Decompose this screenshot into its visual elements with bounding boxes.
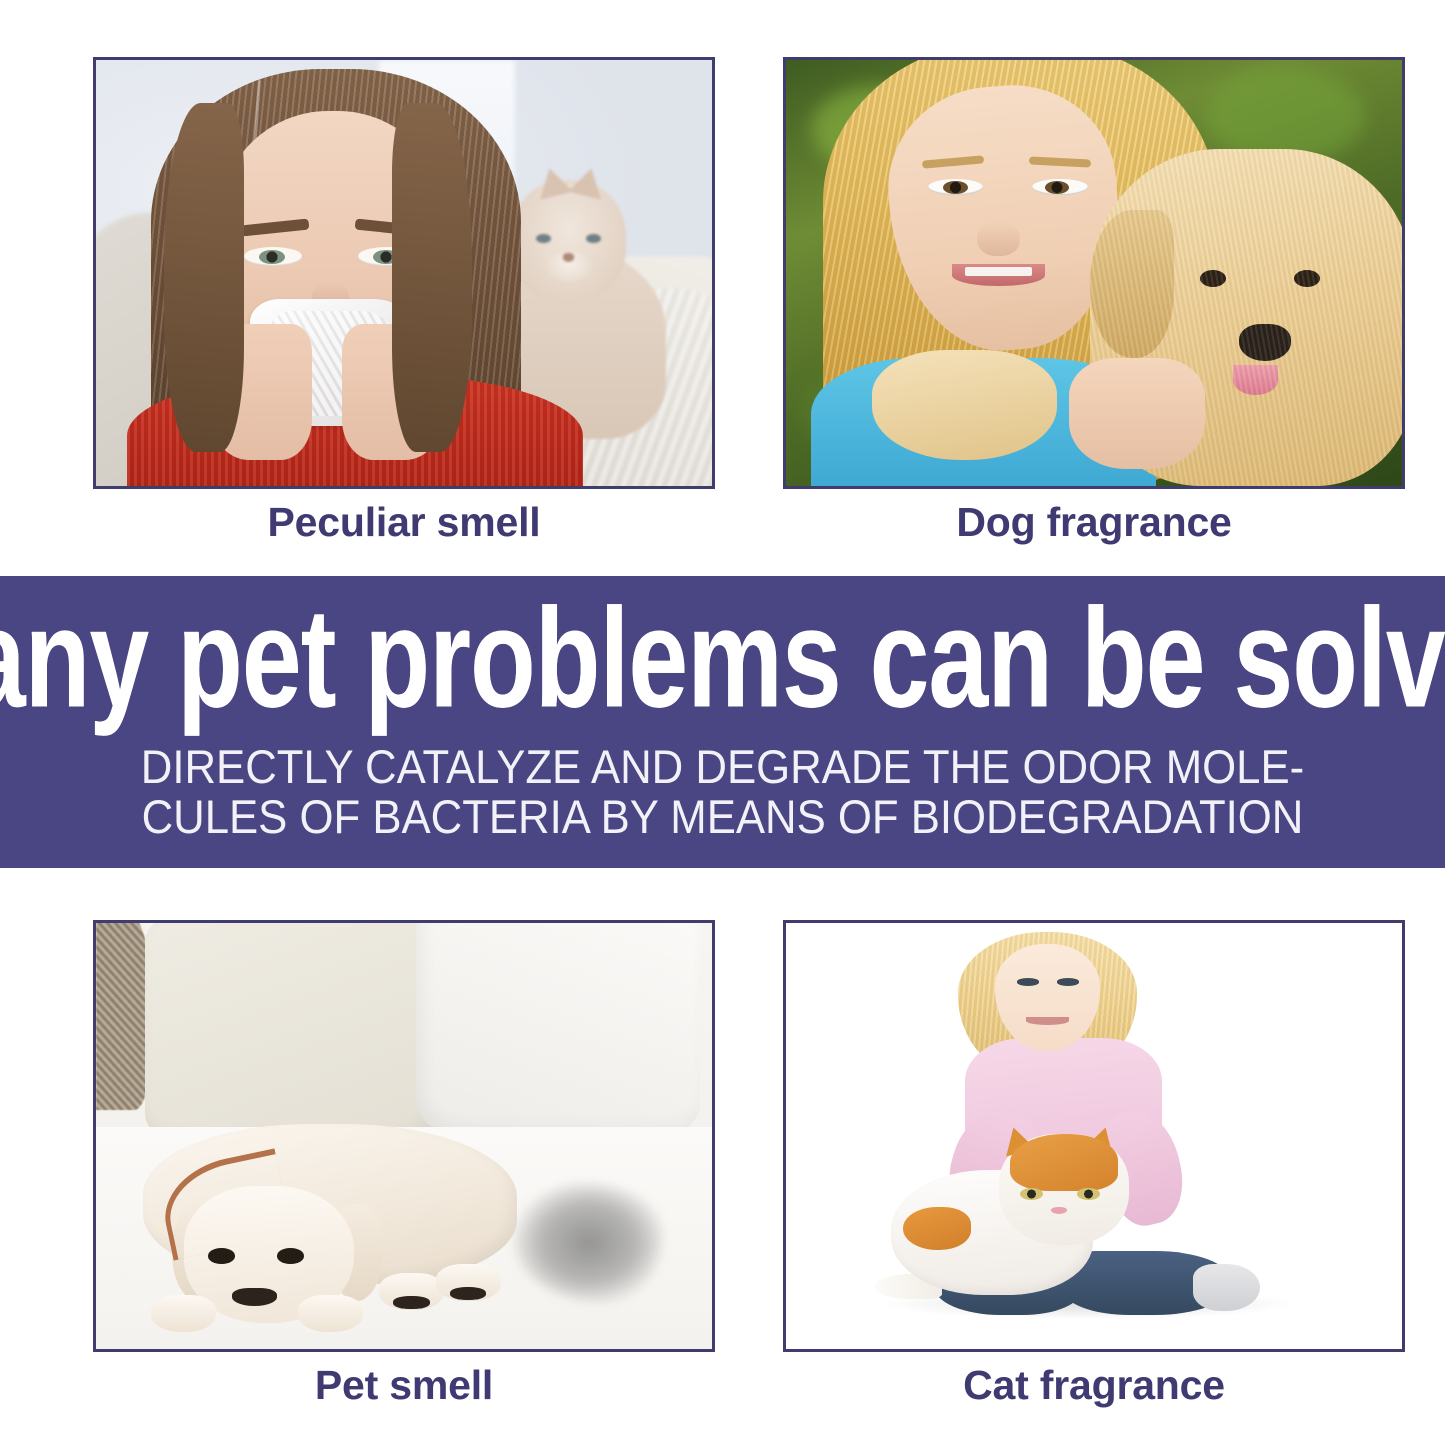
banner-subtitle: DIRECTLY CATALYZE AND DEGRADE THE ODOR M… [141, 742, 1304, 843]
photo-cat-fragrance [786, 923, 1402, 1349]
girl-hand [1069, 358, 1205, 469]
cat-head [511, 180, 626, 301]
caption-peculiar-smell: Peculiar smell [93, 499, 715, 546]
sock [1193, 1264, 1261, 1311]
caption-cat-fragrance: Cat fragrance [783, 1362, 1405, 1409]
scene-girl-cat [786, 923, 1402, 1349]
photo-frame-dog-fragrance [783, 57, 1405, 489]
puppy-paw [872, 350, 1057, 461]
headline-banner: Many pet problems can be solved DIRECTLY… [0, 576, 1445, 868]
cat-illustration [891, 1123, 1150, 1302]
photo-frame-pet-smell [93, 920, 715, 1352]
puppy-nose [1239, 324, 1291, 361]
puppy-paw-2 [298, 1295, 363, 1333]
girl-eye-right [1057, 978, 1079, 985]
caption-dog-fragrance: Dog fragrance [783, 499, 1405, 546]
puppy-illustration [127, 1102, 534, 1324]
puppy-tongue [1233, 365, 1278, 395]
product-infographic: Peculiar smell [0, 0, 1445, 1445]
hair-strand-right [392, 103, 472, 452]
panel-cat-fragrance [783, 920, 1405, 1352]
photo-pet-smell [96, 923, 712, 1349]
scene-woman-tissue-cat [96, 60, 712, 486]
cat-nose [563, 253, 575, 262]
panel-pet-smell [93, 920, 715, 1352]
puppy-paw-4 [436, 1264, 501, 1302]
banner-subtitle-line-1: DIRECTLY CATALYZE AND DEGRADE THE ODOR M… [141, 742, 1304, 792]
puppy-eye-right [1294, 270, 1320, 287]
cat-ear-right [569, 164, 609, 199]
photo-dog-fragrance [786, 60, 1402, 486]
photo-frame-cat-fragrance [783, 920, 1405, 1352]
woven-basket [96, 923, 151, 1110]
puppy-nose [232, 1288, 277, 1306]
girl-iris-left [943, 181, 968, 194]
girl-eye-left [1017, 978, 1039, 985]
caption-pet-smell: Pet smell [93, 1362, 715, 1409]
scene-girl-puppy [786, 60, 1402, 486]
photo-peculiar-smell [96, 60, 712, 486]
scene-puppy-sofa-stain [96, 923, 712, 1349]
banner-subtitle-line-2: CULES OF BACTERIA BY MEANS OF BIODEGRADA… [141, 792, 1304, 842]
photo-frame-peculiar-smell [93, 57, 715, 489]
cat-eye-right [586, 234, 601, 244]
cat-head-patch [1010, 1134, 1119, 1191]
girl-nose [977, 222, 1020, 256]
paw-pad-3 [393, 1296, 429, 1309]
puppy-paw-1 [151, 1295, 216, 1333]
puppy-eye-left [208, 1248, 234, 1264]
cat-orange-patch [903, 1207, 972, 1250]
cat-eye-left [536, 234, 551, 244]
panel-dog-fragrance [783, 57, 1405, 489]
girl-teeth [965, 267, 1033, 276]
puppy-eye-right [277, 1248, 303, 1264]
paw-pad-4 [450, 1287, 486, 1300]
banner-headline: Many pet problems can be solved [0, 588, 1445, 729]
panel-peculiar-smell [93, 57, 715, 489]
puppy-ear [1090, 210, 1174, 358]
puppy-paw-3 [379, 1273, 444, 1311]
cat-ear-left [533, 164, 573, 199]
hair-strand-left [164, 103, 244, 452]
puppy-eye-left [1200, 270, 1226, 287]
